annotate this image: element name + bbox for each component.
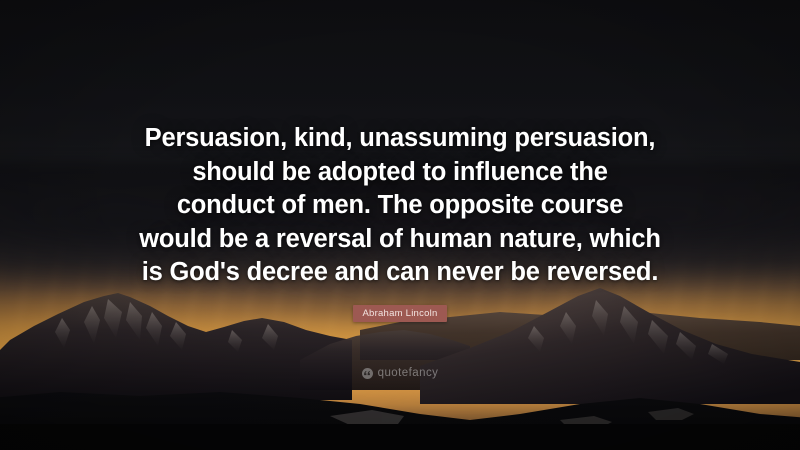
quote-badge-icon	[362, 368, 373, 379]
bottom-black-band	[0, 424, 800, 450]
quote-line-3: conduct of men. The opposite course	[70, 189, 730, 223]
quotefancy-watermark: quotefancy	[0, 367, 800, 379]
author-attribution-badge: Abraham Lincoln	[353, 305, 446, 322]
quote-line-2: should be adopted to influence the	[70, 156, 730, 190]
quote-line-1: Persuasion, kind, unassuming persuasion,	[70, 122, 730, 156]
watermark-brand-text: quotefancy	[378, 367, 439, 379]
quote-line-5: is God's decree and can never be reverse…	[70, 256, 730, 290]
quote-text-block: Persuasion, kind, unassuming persuasion,…	[0, 122, 800, 290]
quote-line-4: would be a reversal of human nature, whi…	[70, 223, 730, 257]
quote-image-canvas: Persuasion, kind, unassuming persuasion,…	[0, 0, 800, 450]
attribution-wrapper: Abraham Lincoln	[0, 303, 800, 322]
